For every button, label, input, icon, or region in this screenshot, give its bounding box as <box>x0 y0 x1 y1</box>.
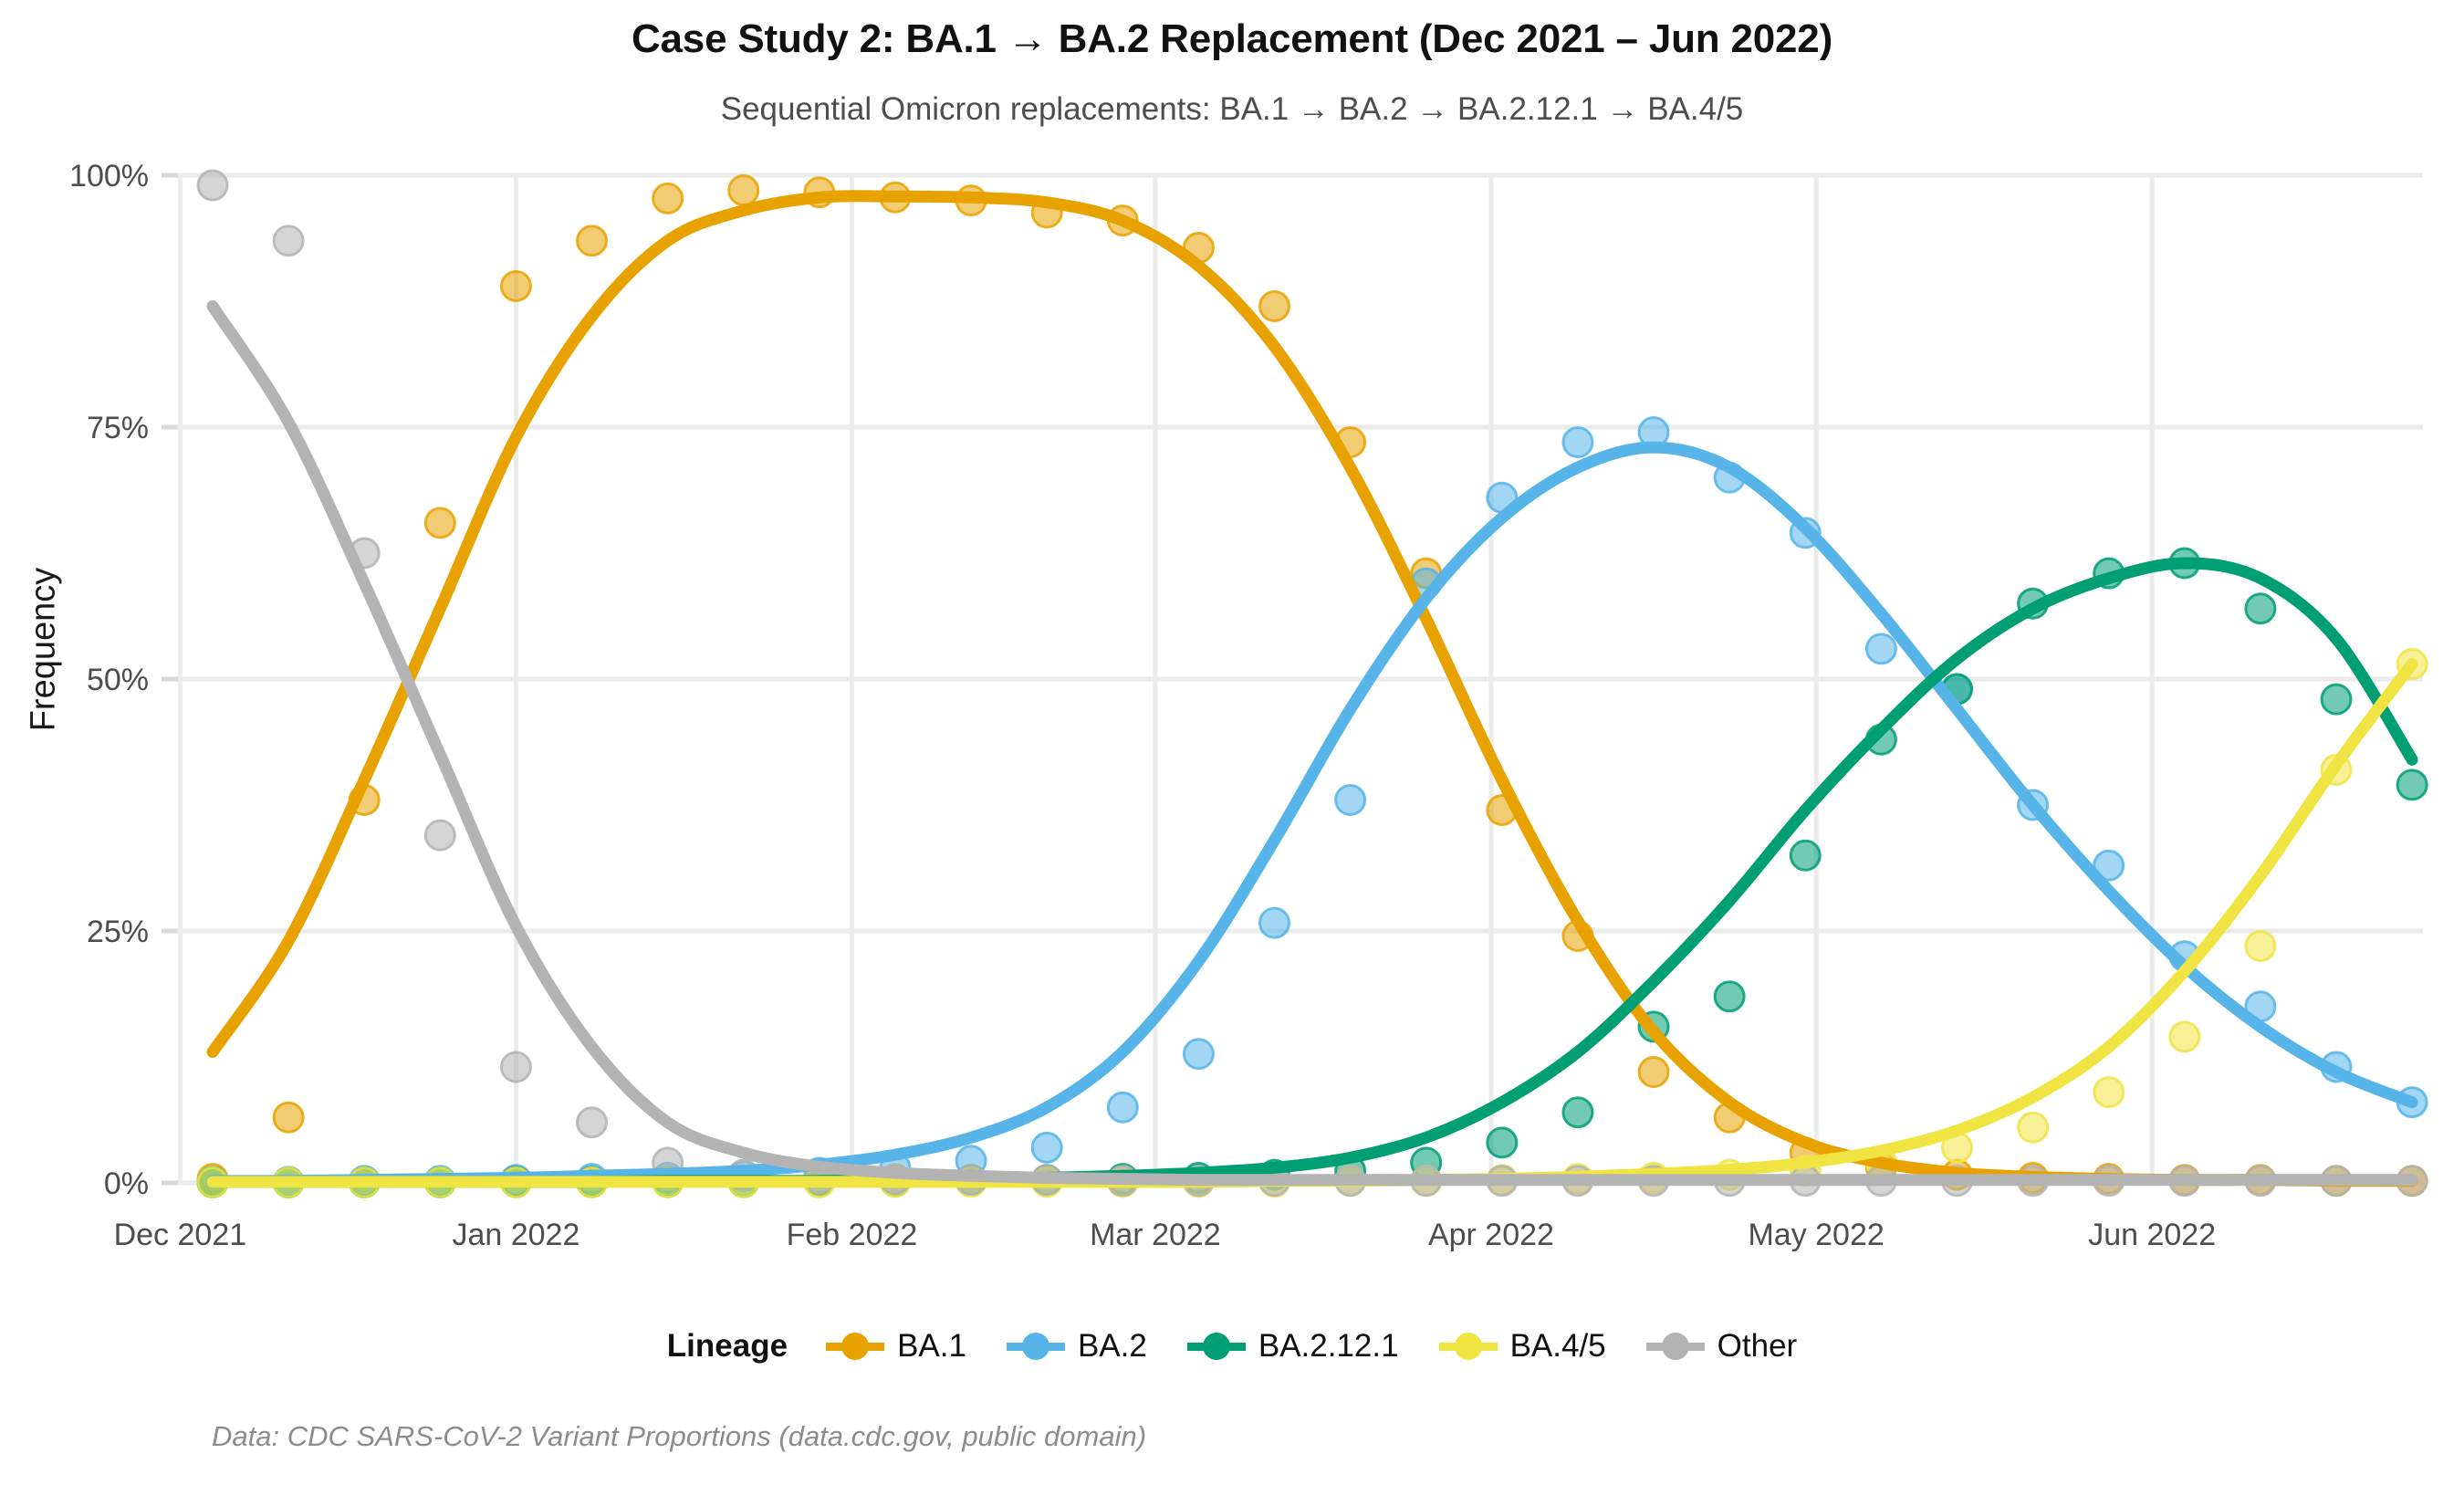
x-axis-ticks: Dec 2021Jan 2022Feb 2022Mar 2022Apr 2022… <box>114 1218 2217 1252</box>
data-point <box>1184 1040 1213 1069</box>
data-point <box>1791 841 1820 870</box>
legend-key-ba2 <box>1007 1328 1065 1365</box>
data-point <box>501 271 530 300</box>
data-point <box>274 226 303 256</box>
legend-dot-icon <box>1455 1333 1482 1360</box>
y-tick-label: 75% <box>87 411 149 445</box>
legend-key-ba45 <box>1439 1328 1498 1365</box>
y-tick-label: 25% <box>87 915 149 949</box>
series-points-Other <box>198 171 2427 1196</box>
y-axis-ticks: 0%25%50%75%100% <box>69 159 178 1201</box>
data-point <box>1260 908 1289 937</box>
legend-title: Lineage <box>667 1328 788 1365</box>
legend-label: BA.2 <box>1078 1328 1147 1365</box>
data-point <box>2246 932 2275 961</box>
legend-key-other <box>1646 1328 1705 1365</box>
series-layer <box>198 171 2427 1197</box>
series-points-BA.1 <box>198 176 2427 1196</box>
x-tick-label: Dec 2021 <box>114 1218 247 1252</box>
legend-dot-icon <box>1022 1333 1049 1360</box>
x-tick-label: Mar 2022 <box>1090 1218 1221 1252</box>
data-point <box>1563 1098 1592 1127</box>
legend-item-BA.2.12.1[interactable]: BA.2.12.1 <box>1187 1328 1399 1365</box>
series-line-BA.2.12.1 <box>213 563 2412 1182</box>
plot-area: 0%25%50%75%100% Dec 2021Jan 2022Feb 2022… <box>0 0 2464 1278</box>
x-tick-label: Jan 2022 <box>452 1218 579 1252</box>
data-point <box>1260 292 1289 321</box>
data-point <box>1715 982 1744 1011</box>
chart-legend: Lineage BA.1BA.2BA.2.12.1BA.4/5Other <box>0 1328 2464 1365</box>
y-tick-label: 50% <box>87 663 149 697</box>
data-point <box>2397 770 2427 800</box>
data-point <box>198 171 227 200</box>
gridlines <box>178 175 2423 1183</box>
data-point <box>1488 1128 1517 1157</box>
data-point <box>425 508 454 538</box>
data-point <box>2094 1078 2124 1107</box>
y-tick-label: 0% <box>104 1166 149 1201</box>
legend-item-BA.4/5[interactable]: BA.4/5 <box>1439 1328 1606 1365</box>
data-point <box>2246 594 2275 623</box>
legend-item-Other[interactable]: Other <box>1646 1328 1798 1365</box>
legend-label: BA.4/5 <box>1510 1328 1606 1365</box>
series-line-Other <box>213 307 2412 1180</box>
series-points-BA.4/5 <box>198 649 2427 1197</box>
data-point <box>1639 1058 1668 1087</box>
chart-figure: Case Study 2: BA.1 → BA.2 Replacement (D… <box>0 0 2464 1506</box>
chart-caption: Data: CDC SARS-CoV-2 Variant Proportions… <box>212 1420 1146 1453</box>
data-point <box>578 226 607 256</box>
data-point <box>1563 428 1592 457</box>
data-point <box>653 183 683 213</box>
legend-items: BA.1BA.2BA.2.12.1BA.4/5Other <box>826 1328 1797 1365</box>
series-points-BA.2 <box>198 418 2427 1197</box>
x-tick-label: Jun 2022 <box>2088 1218 2216 1252</box>
legend-key-ba1 <box>826 1328 884 1365</box>
x-tick-label: Feb 2022 <box>787 1218 918 1252</box>
data-point <box>2019 1113 2048 1142</box>
legend-label: Other <box>1717 1328 1798 1365</box>
data-point <box>1108 1093 1137 1122</box>
legend-item-BA.1[interactable]: BA.1 <box>826 1328 966 1365</box>
data-point <box>729 176 758 205</box>
x-tick-label: Apr 2022 <box>1428 1218 1554 1252</box>
x-tick-label: May 2022 <box>1748 1218 1884 1252</box>
data-point <box>1866 634 1895 664</box>
data-point <box>1032 1133 1061 1162</box>
legend-dot-icon <box>1203 1333 1230 1360</box>
legend-dot-icon <box>1662 1333 1689 1360</box>
data-point <box>1336 785 1365 814</box>
data-point <box>2170 1022 2199 1051</box>
legend-dot-icon <box>841 1333 869 1360</box>
legend-label: BA.2.12.1 <box>1258 1328 1399 1365</box>
data-point <box>2322 685 2351 714</box>
legend-key-ba2121 <box>1187 1328 1246 1365</box>
series-line-BA.4/5 <box>213 664 2412 1182</box>
data-point <box>501 1052 530 1082</box>
legend-item-BA.2[interactable]: BA.2 <box>1007 1328 1147 1365</box>
legend-label: BA.1 <box>897 1328 966 1365</box>
data-point <box>425 821 454 850</box>
data-point <box>274 1103 303 1132</box>
series-line-BA.1 <box>213 196 2412 1181</box>
y-tick-label: 100% <box>69 159 149 193</box>
data-point <box>578 1108 607 1137</box>
